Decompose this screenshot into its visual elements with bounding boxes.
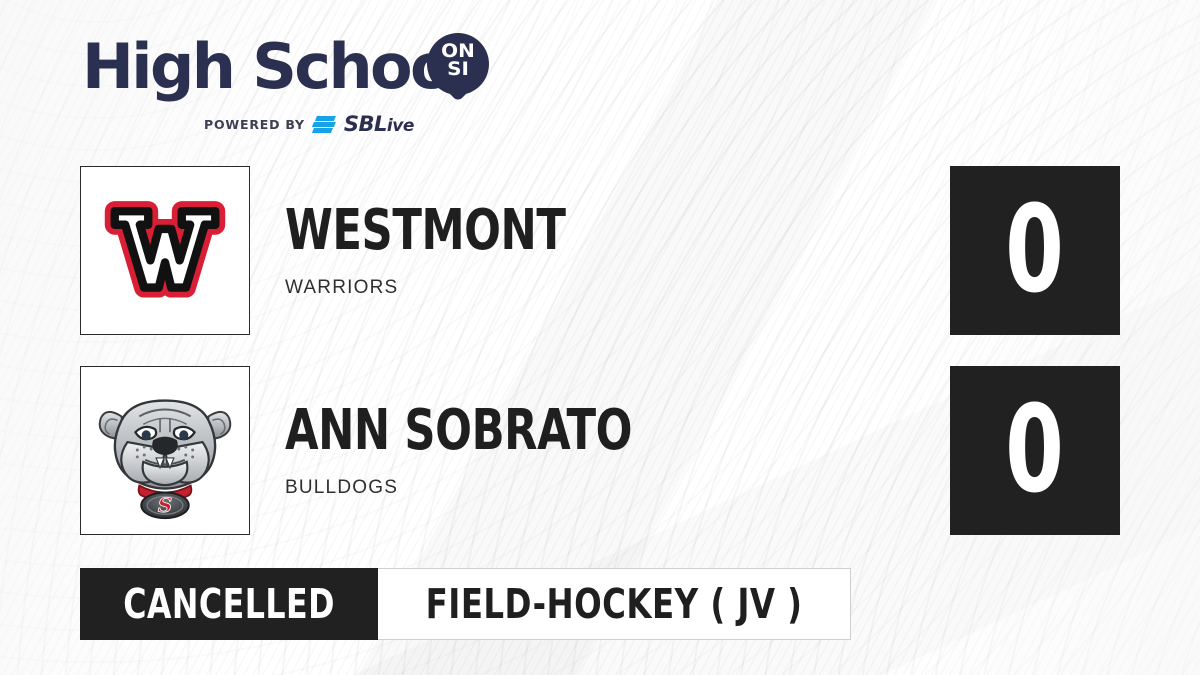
team-logo-card: S <box>80 366 250 535</box>
status-badge-label: CANCELLED <box>123 584 335 625</box>
team-logo-card <box>80 166 250 335</box>
sport-label-panel: FIELD-HOCKEY ( JV ) <box>378 568 851 640</box>
team-name: ANN SOBRATO <box>285 403 632 459</box>
powered-by-row: POWERED BY SBLive <box>204 112 414 136</box>
team-mascot: WARRIORS <box>285 277 611 299</box>
sblive-chevron-icon <box>313 115 335 134</box>
team-name-block: WESTMONT WARRIORS <box>285 203 611 299</box>
pin-label-si: SI <box>425 60 490 79</box>
westmont-w-logo <box>81 167 249 334</box>
team-name: WESTMONT <box>285 203 566 259</box>
scoreboard-graphic: High School ON SI POWERED BY SBLive WEST… <box>0 0 1200 675</box>
sblive-bold-part: SBL <box>344 112 387 136</box>
team-mascot: BULLDOGS <box>285 477 688 499</box>
bulldog-mascot-logo: S <box>81 367 249 534</box>
team-score-box: 0 <box>950 366 1120 535</box>
sport-label: FIELD-HOCKEY ( JV ) <box>426 584 803 625</box>
team-score-box: 0 <box>950 166 1120 335</box>
sblive-wordmark: SBLive <box>344 112 414 136</box>
team-score-value: 0 <box>1006 191 1065 311</box>
sblive-light-part: ive <box>387 116 414 136</box>
tag-letter: S <box>158 493 172 517</box>
brand-lockup: High School ON SI POWERED BY SBLive <box>82 36 512 136</box>
game-status-bar: CANCELLED FIELD-HOCKEY ( JV ) <box>80 568 851 640</box>
on-si-pin-icon: ON SI <box>427 33 489 111</box>
powered-by-label: POWERED BY <box>204 117 305 132</box>
team-name-block: ANN SOBRATO BULLDOGS <box>285 403 688 499</box>
status-badge: CANCELLED <box>80 568 378 640</box>
team-score-value: 0 <box>1006 391 1065 511</box>
